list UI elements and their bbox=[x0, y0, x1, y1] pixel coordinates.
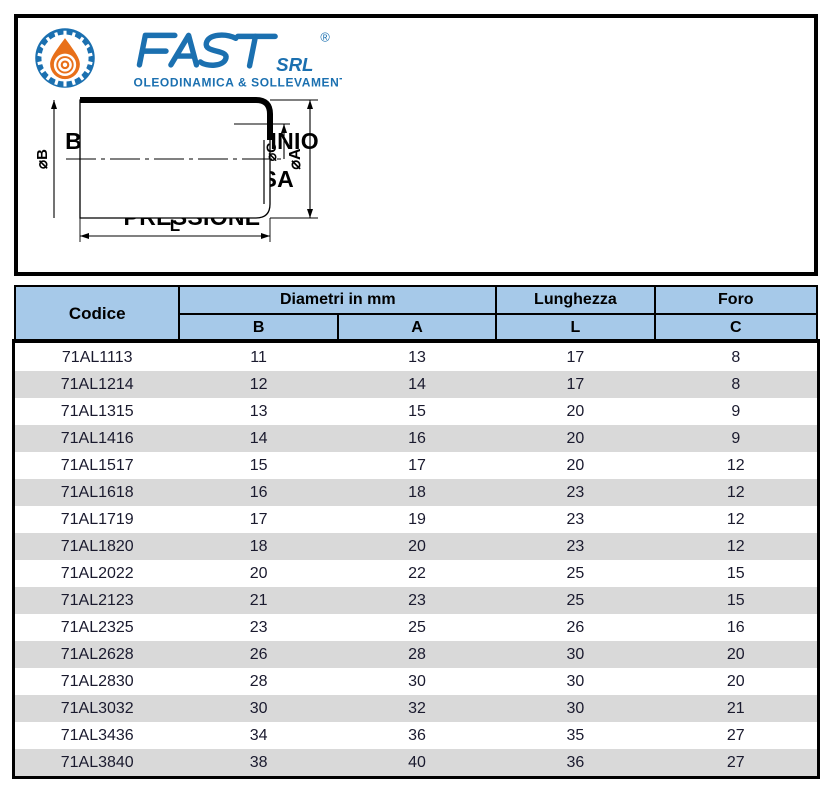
cell-l: 30 bbox=[496, 641, 654, 668]
table-row[interactable]: 71AL343634363527 bbox=[15, 722, 817, 749]
cell-a: 16 bbox=[338, 425, 496, 452]
table-row[interactable]: 71AL232523252616 bbox=[15, 614, 817, 641]
header-lunghezza: Lunghezza bbox=[496, 286, 654, 314]
cell-codice: 71AL1416 bbox=[15, 425, 179, 452]
arrow-l-right bbox=[261, 233, 270, 239]
cell-codice: 71AL1214 bbox=[15, 371, 179, 398]
cell-c: 27 bbox=[655, 749, 817, 776]
cell-c: 21 bbox=[655, 695, 817, 722]
cell-c: 20 bbox=[655, 641, 817, 668]
cell-c: 27 bbox=[655, 722, 817, 749]
cell-a: 20 bbox=[338, 533, 496, 560]
cell-a: 13 bbox=[338, 342, 496, 371]
table-body: 71AL1113111317871AL1214121417871AL131513… bbox=[15, 342, 817, 776]
header-sub-l: L bbox=[496, 314, 654, 342]
table-row[interactable]: 71AL212321232515 bbox=[15, 587, 817, 614]
cell-c: 12 bbox=[655, 452, 817, 479]
table-row[interactable]: 71AL283028303020 bbox=[15, 668, 817, 695]
cell-a: 23 bbox=[338, 587, 496, 614]
table-row[interactable]: 71AL171917192312 bbox=[15, 506, 817, 533]
cell-c: 9 bbox=[655, 425, 817, 452]
cell-b: 20 bbox=[179, 560, 337, 587]
table-row[interactable]: 71AL13151315209 bbox=[15, 398, 817, 425]
cell-b: 16 bbox=[179, 479, 337, 506]
cell-c: 16 bbox=[655, 614, 817, 641]
cell-l: 17 bbox=[496, 371, 654, 398]
cell-l: 30 bbox=[496, 695, 654, 722]
cell-c: 12 bbox=[655, 506, 817, 533]
arrow-c-top bbox=[281, 124, 287, 133]
cell-codice: 71AL3840 bbox=[15, 749, 179, 776]
cell-b: 13 bbox=[179, 398, 337, 425]
cell-a: 22 bbox=[338, 560, 496, 587]
table-row[interactable]: 71AL12141214178 bbox=[15, 371, 817, 398]
table-row[interactable]: 71AL384038403627 bbox=[15, 749, 817, 776]
header-sub-a: A bbox=[338, 314, 496, 342]
cell-b: 23 bbox=[179, 614, 337, 641]
cell-b: 21 bbox=[179, 587, 337, 614]
cell-c: 12 bbox=[655, 479, 817, 506]
table-row[interactable]: 71AL262826283020 bbox=[15, 641, 817, 668]
arrow-a-bottom bbox=[307, 209, 313, 218]
cell-codice: 71AL2628 bbox=[15, 641, 179, 668]
dimension-label-c: ⌀C bbox=[263, 143, 279, 162]
cell-c: 15 bbox=[655, 560, 817, 587]
arrow-a-top bbox=[307, 100, 313, 109]
cell-l: 36 bbox=[496, 749, 654, 776]
header-diametri: Diametri in mm bbox=[179, 286, 496, 314]
header-panel: SRL ® OLEODINAMICA & SOLLEVAMENTO BOCCOL… bbox=[14, 14, 818, 276]
cell-l: 25 bbox=[496, 587, 654, 614]
header-codice: Codice bbox=[15, 286, 179, 342]
dimension-label-a: ⌀A bbox=[287, 148, 304, 170]
cell-l: 30 bbox=[496, 668, 654, 695]
arrow-l-left bbox=[80, 233, 89, 239]
cell-l: 23 bbox=[496, 533, 654, 560]
cell-a: 28 bbox=[338, 641, 496, 668]
cell-b: 14 bbox=[179, 425, 337, 452]
cell-a: 19 bbox=[338, 506, 496, 533]
cell-a: 17 bbox=[338, 452, 496, 479]
table-header-group-row: Codice Diametri in mm Lunghezza Foro bbox=[15, 286, 817, 314]
cell-b: 30 bbox=[179, 695, 337, 722]
cell-a: 25 bbox=[338, 614, 496, 641]
cell-a: 15 bbox=[338, 398, 496, 425]
header-sub-b: B bbox=[179, 314, 337, 342]
registered-mark: ® bbox=[320, 29, 330, 44]
specification-table: Codice Diametri in mm Lunghezza Foro B A… bbox=[14, 285, 818, 776]
cell-l: 20 bbox=[496, 398, 654, 425]
cell-codice: 71AL2123 bbox=[15, 587, 179, 614]
cell-c: 8 bbox=[655, 371, 817, 398]
cell-a: 14 bbox=[338, 371, 496, 398]
cell-codice: 71AL2022 bbox=[15, 560, 179, 587]
cell-b: 18 bbox=[179, 533, 337, 560]
cell-b: 17 bbox=[179, 506, 337, 533]
technical-drawing: ⌀B ⌀A ⌀C L bbox=[18, 78, 338, 248]
cell-a: 40 bbox=[338, 749, 496, 776]
table-row[interactable]: 71AL182018202312 bbox=[15, 533, 817, 560]
cell-b: 34 bbox=[179, 722, 337, 749]
cell-b: 38 bbox=[179, 749, 337, 776]
dimension-label-l: L bbox=[170, 216, 180, 235]
table-row[interactable]: 71AL303230323021 bbox=[15, 695, 817, 722]
cell-codice: 71AL1820 bbox=[15, 533, 179, 560]
cell-codice: 71AL1517 bbox=[15, 452, 179, 479]
header-foro: Foro bbox=[655, 286, 817, 314]
cell-c: 9 bbox=[655, 398, 817, 425]
cell-a: 32 bbox=[338, 695, 496, 722]
cell-l: 23 bbox=[496, 506, 654, 533]
header-sub-c: C bbox=[655, 314, 817, 342]
cell-codice: 71AL3032 bbox=[15, 695, 179, 722]
table-row[interactable]: 71AL202220222515 bbox=[15, 560, 817, 587]
table-row[interactable]: 71AL11131113178 bbox=[15, 342, 817, 371]
cell-l: 35 bbox=[496, 722, 654, 749]
cell-codice: 71AL1315 bbox=[15, 398, 179, 425]
cell-b: 26 bbox=[179, 641, 337, 668]
cell-b: 11 bbox=[179, 342, 337, 371]
cell-codice: 71AL3436 bbox=[15, 722, 179, 749]
cell-l: 23 bbox=[496, 479, 654, 506]
table-row[interactable]: 71AL161816182312 bbox=[15, 479, 817, 506]
cell-c: 15 bbox=[655, 587, 817, 614]
cell-codice: 71AL1719 bbox=[15, 506, 179, 533]
cell-l: 20 bbox=[496, 452, 654, 479]
company-suffix-text: SRL bbox=[276, 54, 313, 75]
cell-a: 36 bbox=[338, 722, 496, 749]
table-row[interactable]: 71AL151715172012 bbox=[15, 452, 817, 479]
cell-c: 12 bbox=[655, 533, 817, 560]
cell-l: 20 bbox=[496, 425, 654, 452]
cell-codice: 71AL1113 bbox=[15, 342, 179, 371]
cell-l: 17 bbox=[496, 342, 654, 371]
cell-codice: 71AL2325 bbox=[15, 614, 179, 641]
cell-c: 8 bbox=[655, 342, 817, 371]
cell-a: 30 bbox=[338, 668, 496, 695]
cell-a: 18 bbox=[338, 479, 496, 506]
arrow-b-top bbox=[51, 100, 57, 109]
table-header: Codice Diametri in mm Lunghezza Foro B A… bbox=[15, 286, 817, 342]
cell-c: 20 bbox=[655, 668, 817, 695]
cell-b: 28 bbox=[179, 668, 337, 695]
cell-codice: 71AL1618 bbox=[15, 479, 179, 506]
cell-b: 15 bbox=[179, 452, 337, 479]
table-row[interactable]: 71AL14161416209 bbox=[15, 425, 817, 452]
cell-l: 26 bbox=[496, 614, 654, 641]
dimension-label-b: ⌀B bbox=[34, 149, 51, 169]
cell-codice: 71AL2830 bbox=[15, 668, 179, 695]
cell-b: 12 bbox=[179, 371, 337, 398]
cell-l: 25 bbox=[496, 560, 654, 587]
